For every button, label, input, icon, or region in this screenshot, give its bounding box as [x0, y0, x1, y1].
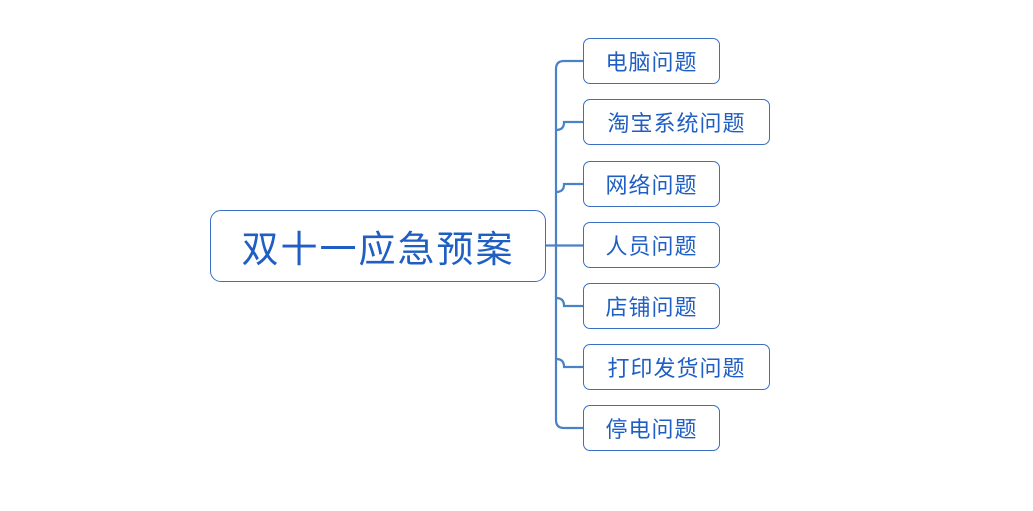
- root-node-label: 双十一应急预案: [242, 219, 515, 273]
- connector-branch-0: [556, 61, 583, 69]
- connector-branch-2: [556, 184, 583, 192]
- connector-branch-5: [556, 359, 583, 367]
- child-node-label: 打印发货问题: [607, 351, 745, 383]
- connector-branch-6: [556, 420, 583, 428]
- child-node-personnel[interactable]: 人员问题: [583, 222, 720, 268]
- root-node[interactable]: 双十一应急预案: [210, 210, 546, 282]
- child-node-network[interactable]: 网络问题: [583, 161, 720, 207]
- child-node-shop[interactable]: 店铺问题: [583, 283, 720, 329]
- child-node-label: 淘宝系统问题: [607, 106, 745, 138]
- child-node-label: 电脑问题: [605, 45, 697, 77]
- connector-branch-4: [556, 298, 583, 306]
- child-node-label: 网络问题: [605, 168, 697, 200]
- connector-branch-1: [556, 122, 583, 130]
- mindmap-canvas: 双十一应急预案 电脑问题 淘宝系统问题 网络问题 人员问题 店铺问题 打印发货问…: [0, 0, 1033, 511]
- child-node-label: 停电问题: [605, 412, 697, 444]
- child-node-print-shipping[interactable]: 打印发货问题: [583, 344, 770, 390]
- child-node-label: 店铺问题: [605, 290, 697, 322]
- child-node-computer[interactable]: 电脑问题: [583, 38, 720, 84]
- child-node-label: 人员问题: [605, 229, 697, 261]
- child-node-taobao-system[interactable]: 淘宝系统问题: [583, 99, 770, 145]
- child-node-power-outage[interactable]: 停电问题: [583, 405, 720, 451]
